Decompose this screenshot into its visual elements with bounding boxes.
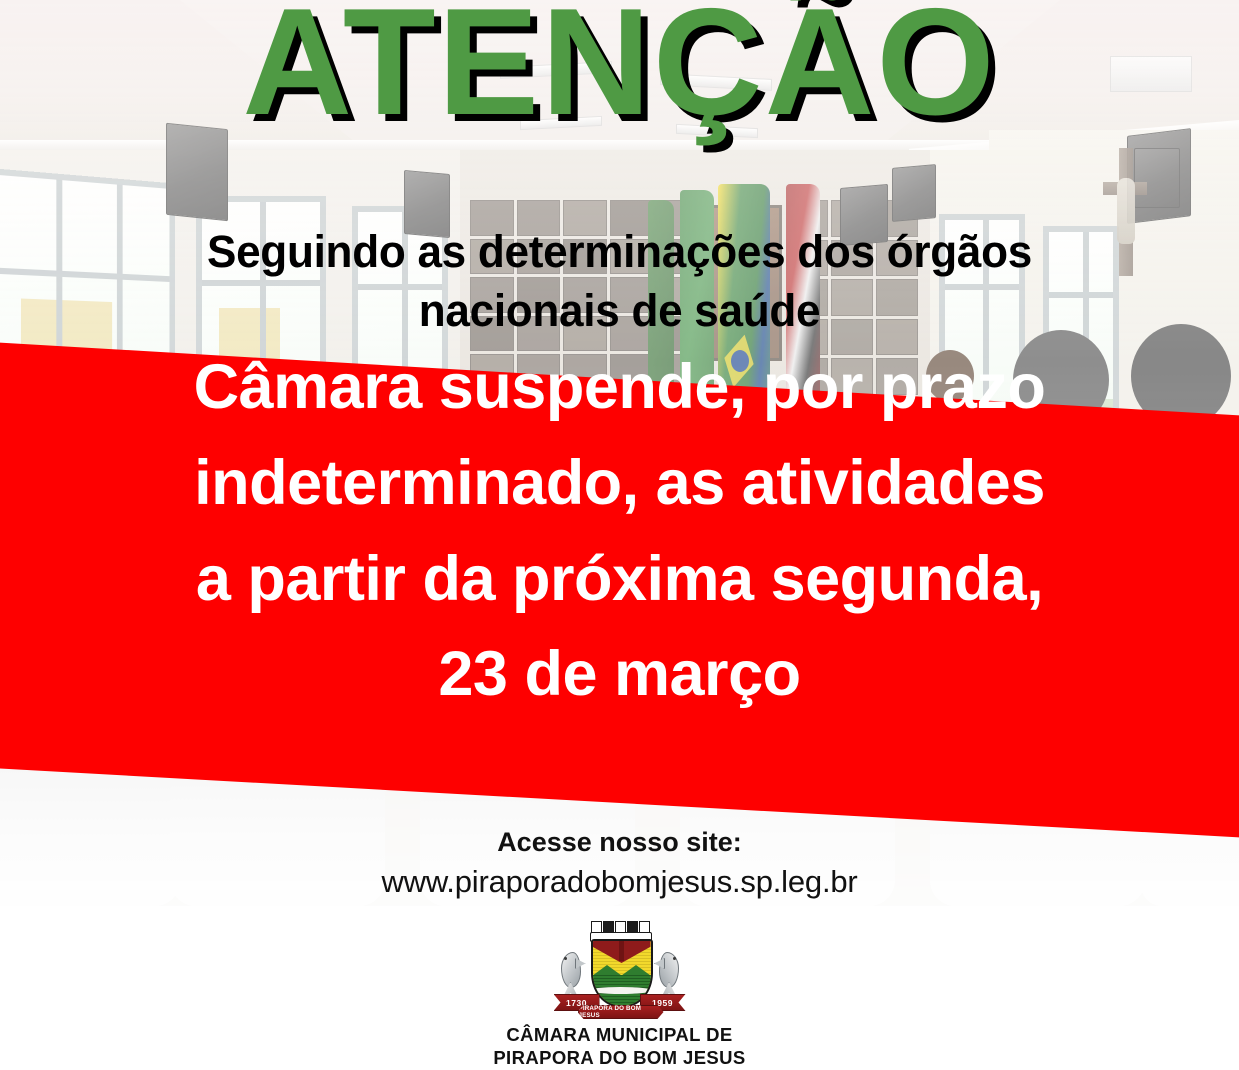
subtitle-line-2: nacionais de saúde bbox=[61, 281, 1177, 340]
fish-supporter-icon bbox=[558, 946, 582, 998]
website-url[interactable]: www.piraporadobomjesus.sp.leg.br bbox=[0, 860, 1239, 905]
page-title: ATENÇÃO bbox=[0, 0, 1239, 138]
subtitle-line-1: Seguindo as determinações dos órgãos bbox=[61, 222, 1177, 281]
announcement-poster: ATENÇÃO Seguindo as determinações dos ór… bbox=[0, 0, 1239, 1070]
website-label: Acesse nosso site: bbox=[0, 826, 1239, 860]
subtitle: Seguindo as determinações dos órgãos nac… bbox=[61, 222, 1177, 341]
coat-of-arms-icon: 1730 1959 PIRAPORA DO BOM JESUS bbox=[554, 920, 686, 1017]
organization-line-2: PIRAPORA DO BOM JESUS bbox=[493, 1046, 745, 1070]
alert-line-1: Câmara suspende, por prazo bbox=[0, 340, 1239, 436]
alert-line-2: indeterminado, as atividades bbox=[0, 436, 1239, 532]
alert-line-3: a partir da próxima segunda, bbox=[0, 532, 1239, 628]
website-callout: Acesse nosso site: www.piraporadobomjesu… bbox=[0, 826, 1239, 905]
fish-supporter-icon bbox=[658, 946, 682, 998]
organization-line-1: CÂMARA MUNICIPAL DE bbox=[493, 1023, 745, 1047]
organization-name: CÂMARA MUNICIPAL DE PIRAPORA DO BOM JESU… bbox=[493, 1023, 745, 1070]
alert-message: Câmara suspende, por prazo indeterminado… bbox=[0, 340, 1239, 723]
alert-line-4: 23 de março bbox=[0, 627, 1239, 723]
footer: 1730 1959 PIRAPORA DO BOM JESUS CÂMARA M… bbox=[0, 906, 1239, 1070]
crest-city-ribbon: PIRAPORA DO BOM JESUS bbox=[578, 1005, 664, 1019]
